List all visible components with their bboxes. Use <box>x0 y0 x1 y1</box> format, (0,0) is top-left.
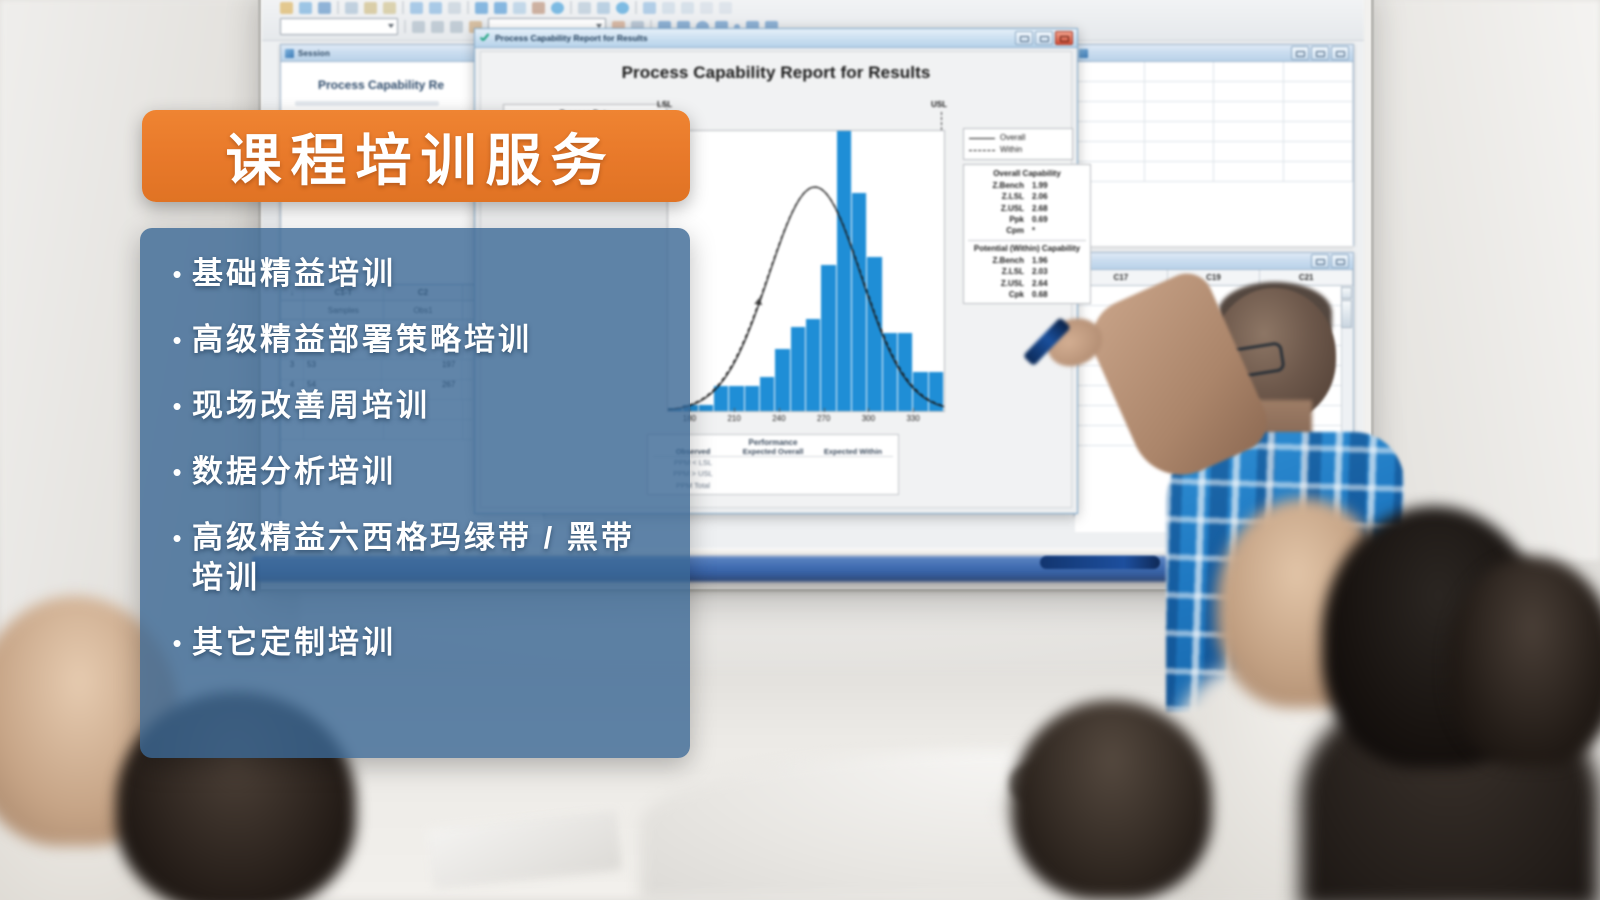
project-icon[interactable] <box>616 2 629 14</box>
open-icon[interactable] <box>299 2 312 14</box>
close-button[interactable] <box>1055 31 1073 45</box>
axis-tick-label: 330 <box>906 414 919 423</box>
worksheet-top-titlebar[interactable] <box>1075 45 1353 62</box>
session-heading: Process Capability Re <box>289 78 473 92</box>
assistant-icon[interactable] <box>532 2 545 14</box>
italic-icon[interactable] <box>431 21 444 33</box>
axis-tick-label: 240 <box>772 414 785 423</box>
undo-icon[interactable] <box>410 2 423 14</box>
x-axis: 180210240270300330 <box>667 412 943 430</box>
table-row[interactable] <box>1075 162 1353 182</box>
minimize-button[interactable] <box>1015 31 1033 45</box>
report-window-controls[interactable] <box>1015 31 1073 45</box>
minimize-button[interactable] <box>1291 46 1309 60</box>
print-icon[interactable] <box>345 2 358 14</box>
capability-row: Z.USL2.64 <box>968 278 1086 289</box>
table-row[interactable] <box>1075 122 1353 142</box>
toolbar-separator <box>635 1 637 14</box>
list-item: • 数据分析培训 <box>162 452 668 492</box>
zoom-out-icon[interactable] <box>681 2 694 14</box>
maximize-button[interactable] <box>1035 31 1053 45</box>
distribution-curves <box>668 131 944 411</box>
chart-title: Process Capability Report for Results <box>481 63 1071 83</box>
toolbar-icon-row[interactable] <box>280 1 732 14</box>
legend-entry-overall: Overall <box>969 132 1067 144</box>
new-icon[interactable] <box>280 2 293 14</box>
table-row[interactable] <box>1075 62 1353 82</box>
capability-row: Z.Bench1.99 <box>968 180 1086 191</box>
within-curve <box>668 187 944 409</box>
legend-entry-within: Within <box>969 144 1067 156</box>
worksheet-window-top[interactable] <box>1074 44 1354 246</box>
session-titlebar[interactable]: Session <box>281 45 481 62</box>
usl-label: USL <box>931 100 947 109</box>
paste-icon[interactable] <box>448 2 461 14</box>
audience-member <box>1448 556 1600 766</box>
axis-tick-mark <box>824 408 825 412</box>
worksheet-icon <box>1079 49 1088 58</box>
list-item: • 现场改善周培训 <box>162 386 668 426</box>
chart-legend: Overall Within <box>963 128 1073 160</box>
capability-row: Z.Bench1.96 <box>968 255 1086 266</box>
capability-row: Z.USL2.68 <box>968 203 1086 214</box>
table-row[interactable] <box>1075 142 1353 162</box>
toolbar-separator <box>570 1 572 14</box>
zoom-in-icon[interactable] <box>662 2 675 14</box>
bullet-icon: • <box>162 320 192 360</box>
bullet-icon: • <box>162 386 192 426</box>
bold-icon[interactable] <box>412 21 425 33</box>
list-item: • 其它定制培训 <box>162 623 668 663</box>
bullet-icon: • <box>162 452 192 492</box>
axis-tick-mark <box>913 408 914 412</box>
grid-icon[interactable] <box>700 2 713 14</box>
toolbar-separator <box>404 20 406 33</box>
capability-row: Z.LSL2.06 <box>968 191 1086 202</box>
worksheet-icon[interactable] <box>597 2 610 14</box>
stat-icon[interactable] <box>513 2 526 14</box>
capability-box: Overall Capability Z.Bench1.99 Z.LSL2.06… <box>963 164 1091 304</box>
list-item: • 高级精益部署策略培训 <box>162 320 668 360</box>
redo-icon[interactable] <box>429 2 442 14</box>
list-item-label: 基础精益培训 <box>192 254 396 294</box>
banner-title: 课程培训服务 <box>217 116 616 197</box>
session-window-title: Session <box>298 49 330 58</box>
worksheet-top-window-controls[interactable] <box>1291 46 1349 60</box>
bullet-icon: • <box>162 254 192 294</box>
dashed-line-icon <box>969 150 995 151</box>
marker-on-tray <box>1040 556 1160 569</box>
capability-row: Z.LSL2.03 <box>968 266 1086 277</box>
histogram-plot <box>667 130 945 412</box>
list-item: • 高级精益六西格玛绿带 / 黑带培训 <box>162 518 668 597</box>
presentation-photo-slide: Session Process Capability Re <box>0 0 1600 900</box>
divider <box>968 240 1086 241</box>
list-item: • 基础精益培训 <box>162 254 668 294</box>
worksheet-top-grid[interactable] <box>1075 62 1353 246</box>
capability-row: Cpk0.68 <box>968 289 1086 300</box>
session-text-line <box>295 101 439 106</box>
report-window-title: Process Capability Report for Results <box>495 33 648 43</box>
options-icon[interactable] <box>719 2 732 14</box>
maximize-button[interactable] <box>1311 46 1329 60</box>
table-row[interactable] <box>1075 102 1353 122</box>
list-item-label: 其它定制培训 <box>192 623 396 663</box>
help-icon[interactable] <box>643 2 656 14</box>
axis-tick-label: 300 <box>862 414 875 423</box>
toolbar-separator <box>402 1 404 14</box>
copy-icon[interactable] <box>383 2 396 14</box>
list-item-label: 现场改善周培训 <box>192 386 430 426</box>
course-list-card: • 基础精益培训 • 高级精益部署策略培训 • 现场改善周培训 • 数据分析培训… <box>140 228 690 758</box>
worksheet-bottom-window-controls[interactable] <box>1311 254 1349 268</box>
capability-row: Ppk0.69 <box>968 214 1086 225</box>
table-row[interactable] <box>1075 82 1353 102</box>
chart-icon[interactable] <box>475 2 488 14</box>
worksheet-bottom-titlebar[interactable] <box>1075 253 1353 270</box>
overall-curve <box>668 187 944 410</box>
font-family-select[interactable] <box>280 18 398 35</box>
within-capability-heading: Potential (Within) Capability <box>968 244 1086 253</box>
restore-button[interactable] <box>1331 46 1349 60</box>
axis-tick-mark <box>868 408 869 412</box>
list-item-label: 数据分析培训 <box>192 452 396 492</box>
graph-icon[interactable] <box>494 2 507 14</box>
toolbar-separator <box>337 1 339 14</box>
list-item-label: 高级精益部署策略培训 <box>192 320 532 360</box>
audience-member <box>1012 700 1212 900</box>
axis-tick-label: 210 <box>727 414 740 423</box>
checkmark-icon <box>479 33 490 44</box>
solid-line-icon <box>969 138 995 139</box>
cut-icon[interactable] <box>364 2 377 14</box>
overall-capability-heading: Overall Capability <box>968 169 1086 178</box>
session-icon[interactable] <box>578 2 591 14</box>
lsl-label: LSL <box>657 100 672 109</box>
list-item-label: 高级精益六西格玛绿带 / 黑带培训 <box>192 518 668 597</box>
capability-row: Cpm* <box>968 225 1086 236</box>
report-titlebar[interactable]: Process Capability Report for Results <box>475 29 1077 48</box>
maximize-button[interactable] <box>1331 254 1349 268</box>
save-icon[interactable] <box>318 2 331 14</box>
toolbar-separator <box>467 1 469 14</box>
capability-icon[interactable] <box>551 2 564 14</box>
minimize-button[interactable] <box>1311 254 1329 268</box>
axis-tick-mark <box>779 408 780 412</box>
session-icon <box>285 49 294 58</box>
axis-tick-label: 270 <box>817 414 830 423</box>
axis-tick-mark <box>734 408 735 412</box>
bullet-icon: • <box>162 623 192 663</box>
underline-icon[interactable] <box>450 21 463 33</box>
bullet-icon: • <box>162 518 192 558</box>
banner-card: 课程培训服务 <box>142 110 690 202</box>
